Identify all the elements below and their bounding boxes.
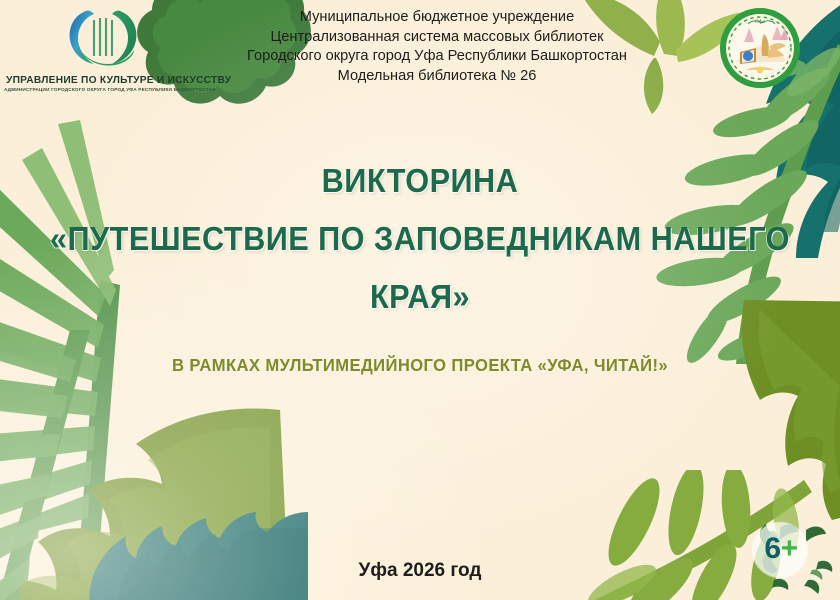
logo-subtitle: АДМИНИСТРАЦИИ ГОРОДСКОГО ОКРУГА ГОРОД УФ… [4,87,214,92]
org-line-4: Модельная библиотека № 26 [222,67,652,87]
ufa-city-emblem-icon: Өфө [718,6,802,90]
olive-monstera-bottom-right-icon [714,300,840,520]
title-line-2: «ПУТЕШЕСТВИЕ ПО ЗАПОВЕДНИКАМ НАШЕГО [29,210,810,268]
org-line-3: Городского округа город Уфа Республики Б… [222,47,652,67]
logo-title: УПРАВЛЕНИЕ ПО КУЛЬТУРЕ И ИСКУССТВУ [6,75,212,86]
age-rating-plus: + [781,532,798,566]
poster-header: УПРАВЛЕНИЕ ПО КУЛЬТУРЕ И ИСКУССТВУ АДМИН… [0,0,840,110]
poster-title-block: ВИКТОРИНА «ПУТЕШЕСТВИЕ ПО ЗАПОВЕДНИКАМ Н… [0,152,840,326]
poster-subtitle: В РАМКАХ МУЛЬТИМЕДИЙНОГО ПРОЕКТА «УФА, Ч… [21,355,819,376]
poster-canvas: УПРАВЛЕНИЕ ПО КУЛЬТУРЕ И ИСКУССТВУ АДМИН… [0,0,840,600]
org-line-1: Муниципальное бюджетное учреждение [222,8,652,28]
age-rating-number: 6 [764,532,780,566]
culture-department-logo: УПРАВЛЕНИЕ ПО КУЛЬТУРЕ И ИСКУССТВУ АДМИН… [6,4,212,104]
footer-year: Уфа 2026 год [0,560,840,582]
svg-text:Өфө: Өфө [755,18,765,25]
title-line-3: КРАЯ» [29,268,810,326]
lyre-logo-icon [64,6,142,72]
organization-name: Муниципальное бюджетное учреждение Центр… [222,8,652,86]
age-badge-text: 6+ [744,516,818,582]
title-line-1: ВИКТОРИНА [29,152,810,210]
teal-serrated-leaf-bottom-left-icon [78,500,308,600]
org-line-2: Централизованная система массовых библио… [222,28,652,48]
age-rating-badge: 6+ [744,516,818,582]
